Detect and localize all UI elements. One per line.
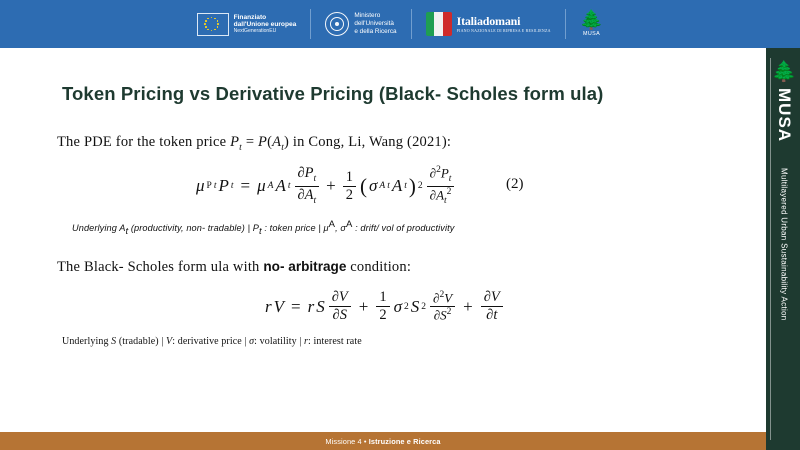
italiadomani-title: Italiadomani	[457, 15, 551, 28]
eq1-mu: μ	[196, 176, 205, 196]
eq1-d2: ∂	[298, 187, 305, 203]
equation-number: (2)	[506, 176, 524, 193]
cap1-p2: (productivity, non- tradable) |	[128, 223, 253, 233]
eq2-frac-d2V-dS2: ∂2V ∂S2	[430, 291, 455, 322]
eq1-dA: A	[305, 187, 314, 203]
italiadomani-logo: Italiadomani PIANO NAZIONALE DI RIPRESA …	[412, 7, 565, 41]
eq2-plus1: +	[359, 297, 369, 317]
footer-bar: Missione 4 • Istruzione e Ricerca	[0, 432, 766, 450]
musa-header-caption: MUSA	[583, 31, 600, 37]
ministry-text: Ministero dell'Università e della Ricerc…	[354, 12, 396, 37]
slide-root: Finanziato dall'Unione europea NextGener…	[0, 0, 800, 450]
eq2-d2: ∂	[333, 307, 340, 323]
footer-emphasis: Istruzione e Ricerca	[369, 437, 441, 446]
cap2-p1: Underlying	[62, 336, 111, 347]
slide-content: Token Pricing vs Derivative Pricing (Bla…	[0, 48, 766, 432]
eq1-paren-close: )	[409, 174, 416, 199]
eq1-A2: A	[392, 176, 402, 196]
eq1-A: A	[275, 176, 285, 196]
eq2-dV2: V	[444, 291, 452, 306]
eq1-d1: ∂	[298, 165, 305, 181]
eq1-dA2-sub: t	[444, 196, 447, 206]
tree-icon: 🌲	[772, 62, 797, 82]
ministry-line1: Ministero	[354, 12, 396, 20]
eq1-A2-sub: t	[404, 181, 407, 191]
black-scholes-intro: The Black- Scholes form ula with no- arb…	[57, 259, 411, 276]
cap1-p1: Underlying	[72, 223, 119, 233]
logo-divider	[411, 9, 412, 39]
token-pde-intro: The PDE for the token price Pt = P(At) i…	[57, 134, 451, 153]
musa-sidebar: 🌲 MUSA Multilayered Urban Sustainability…	[766, 48, 800, 450]
cap1-p3: : token price |	[262, 223, 324, 233]
eq2-rS-r: r	[308, 297, 315, 317]
eq1-sigma-sub: t	[387, 181, 390, 191]
bs-intro-post: condition:	[346, 259, 411, 275]
eq1-P: P	[218, 176, 228, 196]
eq2-dS: S	[340, 307, 347, 323]
eq1-frac-half: 1 2	[343, 170, 356, 203]
eq1-dP2: P	[441, 165, 449, 180]
eq2-sigma: σ	[394, 297, 402, 317]
page-title: Token Pricing vs Derivative Pricing (Bla…	[62, 83, 603, 105]
cap2-p3: : derivative price |	[172, 336, 249, 347]
bs-intro-pre: The Black- Scholes form ula with	[57, 259, 263, 275]
eq2-frac-half: 1 2	[376, 290, 389, 323]
eq2-dV: V	[339, 289, 348, 305]
eq2-two: 2	[376, 307, 389, 323]
eq1-dP-sub: t	[314, 174, 317, 184]
eq2-plus2: +	[463, 297, 473, 317]
symbol-P: P	[230, 134, 239, 150]
eq1-equals: =	[241, 176, 251, 196]
eu-flag-icon	[197, 13, 229, 36]
eq2-rS-S: S	[316, 297, 325, 317]
eq2-sigma-sq: 2	[404, 302, 409, 312]
sidebar-brand: MUSA	[774, 88, 794, 142]
cap1-p4: : drift/ vol of productivity	[352, 223, 454, 233]
eq1-frac-d2P-dA2: ∂2Pt ∂At2	[427, 166, 455, 207]
eq1-dA2: A	[436, 187, 444, 202]
header-banner: Finanziato dall'Unione europea NextGener…	[0, 0, 800, 48]
eu-logo-line3: NextGenerationEU	[234, 29, 297, 35]
eu-funding-logo: Finanziato dall'Unione europea NextGener…	[183, 7, 311, 41]
eq1-dP: P	[305, 165, 314, 181]
ministry-line2: dell'Università	[354, 20, 396, 28]
logo-divider	[565, 9, 566, 39]
cap2-p5: : interest rate	[308, 336, 362, 347]
italiadomani-subtitle: PIANO NAZIONALE DI RIPRESA E RESILIENZA	[457, 29, 551, 33]
tree-icon: 🌲	[580, 11, 604, 30]
eq2-one: 1	[376, 290, 389, 307]
eq1-mu-sup: P	[207, 181, 212, 191]
footer-prefix: Missione 4 •	[325, 437, 368, 446]
intro-text-b: in Cong, Li, Wang (2021):	[289, 134, 451, 150]
ministry-logo: Ministero dell'Università e della Ricerc…	[311, 7, 410, 41]
eq2-S-sq: 2	[421, 302, 426, 312]
eu-funding-text: Finanziato dall'Unione europea NextGener…	[234, 14, 297, 34]
eq2-d1: ∂	[332, 289, 339, 305]
eq1-dP2-sub: t	[449, 174, 452, 184]
eq1-plus: +	[326, 176, 336, 196]
symbol-P2: P	[258, 134, 267, 150]
symbol-A: A	[272, 134, 281, 150]
republic-emblem-icon	[325, 12, 349, 36]
footer-text: Missione 4 • Istruzione e Ricerca	[325, 437, 440, 446]
eq1-A-sub: t	[288, 181, 291, 191]
header-logo-group: Finanziato dall'Unione europea NextGener…	[183, 4, 618, 44]
black-scholes-caption: Underlying S (tradable) | V: derivative …	[62, 336, 362, 347]
eq2-dV3: V	[491, 289, 500, 305]
eq1-dA2-sup: 2	[447, 187, 452, 197]
eq1-muA-sup: A	[268, 181, 274, 191]
eq2-r: r	[265, 297, 272, 317]
eq1-two: 2	[343, 187, 356, 203]
italian-flag-icon	[426, 12, 452, 36]
eq1-one: 1	[343, 170, 356, 187]
eq2-dt: t	[493, 307, 497, 323]
eq2-equals: =	[291, 297, 301, 317]
eq1-frac-dP-dA: ∂Pt ∂At	[295, 166, 320, 207]
intro-equals: =	[242, 134, 258, 150]
musa-header-logo: 🌲 MUSA	[566, 7, 618, 41]
eq1-muA: μ	[257, 176, 266, 196]
eq2-frac-dV-dt: ∂V ∂t	[481, 290, 503, 323]
eq1-paren-open: (	[360, 174, 367, 199]
sidebar-tagline: Multilayered Urban Sustainability Action	[780, 168, 789, 321]
eq2-d5: ∂	[484, 289, 491, 305]
token-pde-caption: Underlying At (productivity, non- tradab…	[72, 219, 454, 237]
logo-divider	[310, 9, 311, 39]
cap2-p4: : volatility |	[254, 336, 304, 347]
eq2-S: S	[411, 297, 420, 317]
eq1-P-sub: t	[231, 181, 234, 191]
eu-logo-line1: Finanziato	[234, 14, 297, 21]
eq2-V: V	[274, 297, 284, 317]
token-pde-equation: μPtPt = μAAt ∂Pt ∂At + 1 2 (σAtAt)2 ∂2Pt…	[196, 166, 456, 207]
eq1-mu-sub: t	[214, 181, 217, 191]
ministry-line3: e della Ricerca	[354, 28, 396, 36]
intro-text-a: The PDE for the token price	[57, 134, 230, 150]
bs-intro-bold: no- arbitrage	[263, 259, 346, 274]
eq1-dA-sub: t	[314, 196, 317, 206]
eq2-frac-dV-dS: ∂V ∂S	[329, 290, 351, 323]
black-scholes-equation: rV = rS ∂V ∂S + 1 2 σ2S2 ∂2V ∂S2 +	[265, 290, 505, 323]
eq1-power: 2	[418, 181, 423, 191]
italiadomani-text: Italiadomani PIANO NAZIONALE DI RIPRESA …	[457, 15, 551, 33]
eq1-sigma: σ	[369, 176, 377, 196]
cap2-p2: (tradable) |	[116, 336, 166, 347]
eq2-dS2-sup: 2	[447, 307, 452, 317]
eq1-sigma-sup: A	[379, 181, 385, 191]
